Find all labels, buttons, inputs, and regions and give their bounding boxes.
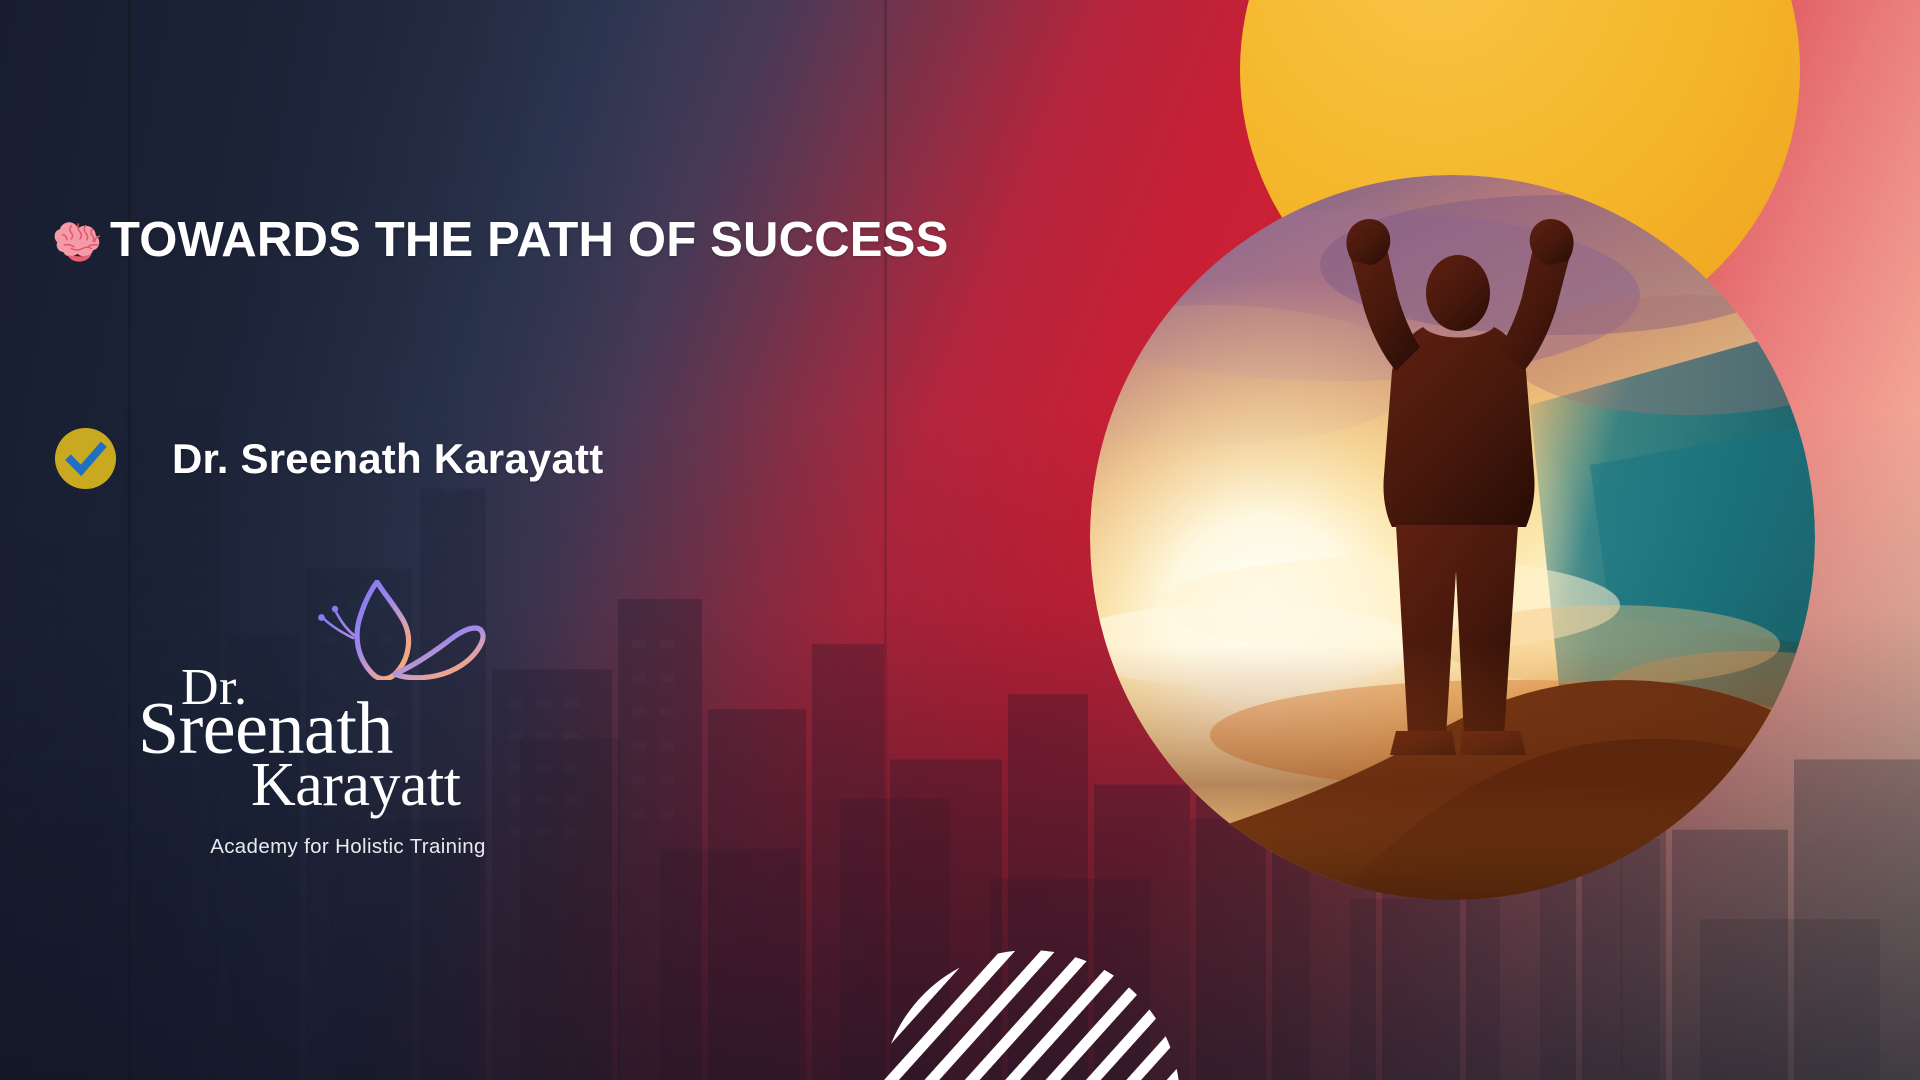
slide-content: TOWARDS THE PATH OF SUCCESS Dr. Sreenath… bbox=[0, 0, 1160, 1080]
presenter-name: Dr. Sreenath Karayatt bbox=[172, 435, 603, 483]
logo-wordmark: Dr. Sreenath Karayatt Academy for Holist… bbox=[186, 672, 516, 800]
logo-line-karayatt: Karayatt bbox=[251, 754, 460, 816]
headline-block: TOWARDS THE PATH OF SUCCESS bbox=[52, 210, 948, 270]
presentation-slide: TOWARDS THE PATH OF SUCCESS Dr. Sreenath… bbox=[0, 0, 1920, 1080]
verified-check-icon bbox=[54, 427, 117, 490]
butterfly-lotus-icon bbox=[291, 580, 506, 680]
headline-text: TOWARDS THE PATH OF SUCCESS bbox=[110, 216, 948, 265]
presenter-block: Dr. Sreenath Karayatt bbox=[54, 427, 603, 490]
logo-tagline: Academy for Holistic Training bbox=[178, 835, 518, 859]
success-silhouette-photo bbox=[1090, 175, 1815, 900]
brain-icon bbox=[52, 210, 108, 266]
brand-logo: Dr. Sreenath Karayatt Academy for Holist… bbox=[186, 580, 516, 800]
